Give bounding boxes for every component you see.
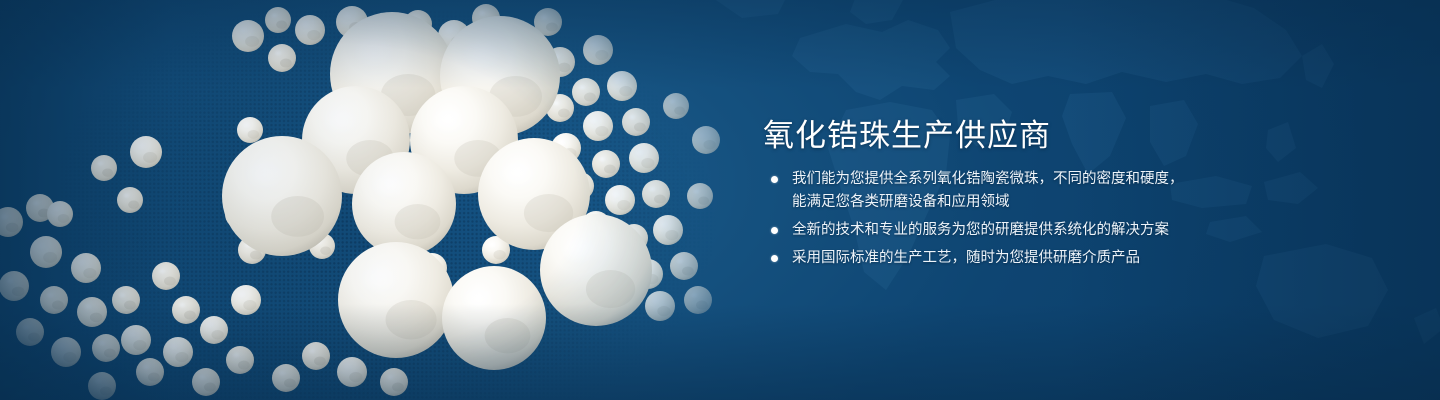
list-item-line: 采用国际标准的生产工艺，随时为您提供研磨介质产品 (792, 247, 1385, 270)
list-item: 全新的技术和专业的服务为您的研磨提供系统化的解决方案 (765, 219, 1385, 242)
list-item-line: 能满足您各类研磨设备和应用领域 (792, 191, 1385, 214)
banner-content: 氧化锆珠生产供应商 我们能为您提供全系列氧化锆陶瓷微珠，不同的密度和硬度， 能满… (763, 0, 1403, 400)
hero-banner: 氧化锆珠生产供应商 我们能为您提供全系列氧化锆陶瓷微珠，不同的密度和硬度， 能满… (0, 0, 1440, 400)
banner-title: 氧化锆珠生产供应商 (763, 110, 1051, 155)
feature-list: 我们能为您提供全系列氧化锆陶瓷微珠，不同的密度和硬度， 能满足您各类研磨设备和应… (765, 168, 1385, 270)
bullet-dot-icon (771, 227, 778, 234)
bullet-dot-icon (771, 255, 778, 262)
list-item-line: 我们能为您提供全系列氧化锆陶瓷微珠，不同的密度和硬度， (792, 168, 1385, 191)
list-item: 我们能为您提供全系列氧化锆陶瓷微珠，不同的密度和硬度， 能满足您各类研磨设备和应… (765, 168, 1385, 214)
list-item-line: 全新的技术和专业的服务为您的研磨提供系统化的解决方案 (792, 219, 1385, 242)
bullet-dot-icon (771, 176, 778, 183)
list-item: 采用国际标准的生产工艺，随时为您提供研磨介质产品 (765, 247, 1385, 270)
